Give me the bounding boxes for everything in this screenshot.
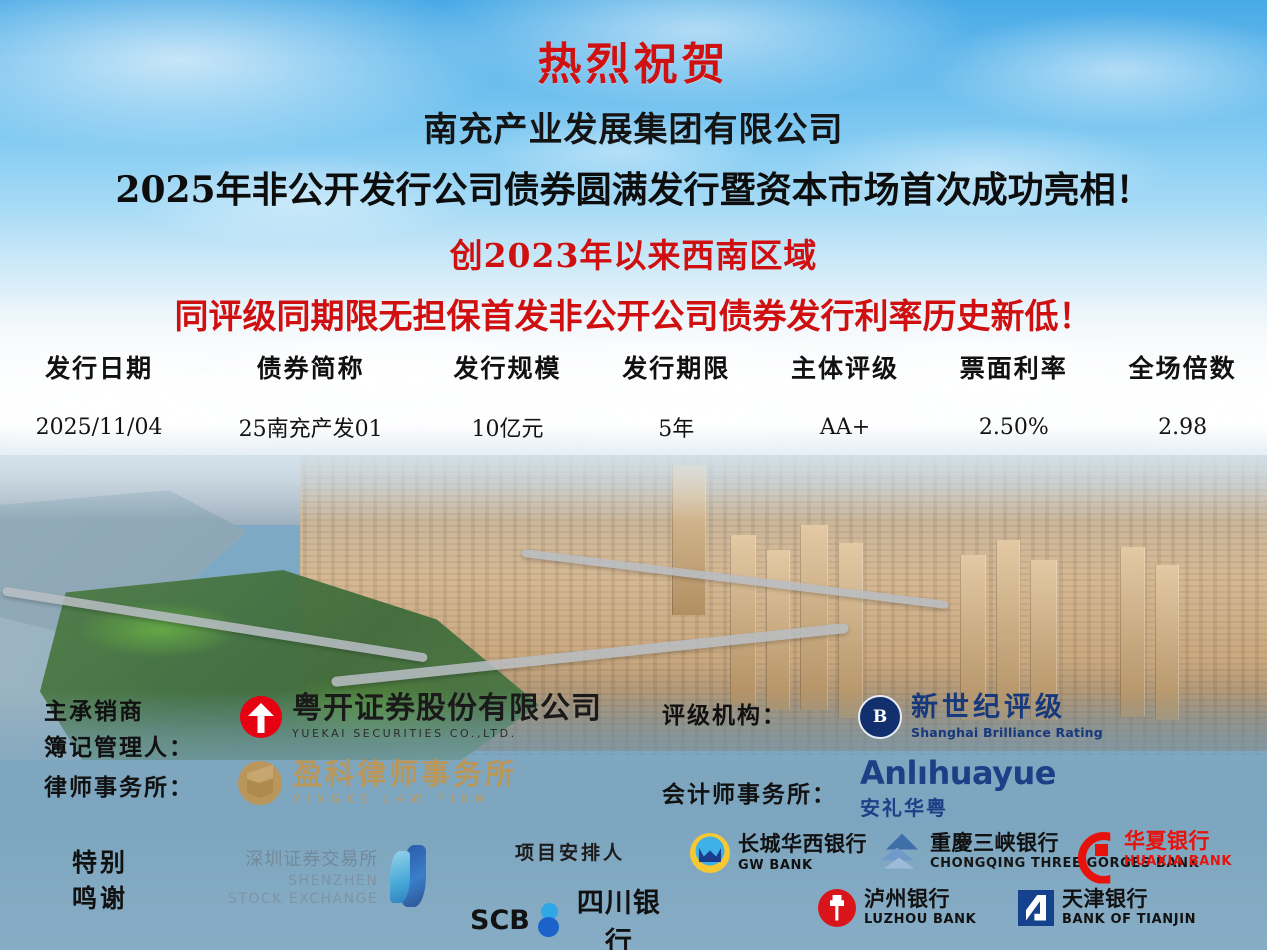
scb-name-cn: 四川银行	[568, 881, 670, 950]
col-header-issuer-rating: 主体评级	[761, 345, 930, 411]
record-line-1: 创2023年以来西南区域	[0, 229, 1267, 277]
thanks-line-1: 特别	[72, 845, 128, 881]
luzhou-bank-logo: 泸州银行 LUZHOU BANK	[818, 888, 976, 927]
col-header-tenor: 发行期限	[592, 345, 761, 411]
thanks-line-2: 鸣谢	[72, 881, 128, 917]
table-row: 2025/11/04 25南充产发01 10亿元 5年 AA+ 2.50% 2.…	[0, 411, 1267, 443]
yingke-cube-icon	[238, 761, 282, 805]
yingke-law-firm-logo: 盈科律师事务所 YINGKE LAW FIRM	[238, 760, 517, 806]
tianjin-bank-text: 天津银行 BANK OF TIANJIN	[1062, 888, 1196, 927]
high-rise	[730, 535, 756, 705]
congrats-title: 热烈祝贺	[0, 42, 1267, 88]
yingke-name-cn: 盈科律师事务所	[293, 760, 517, 789]
bank-of-tianjin-logo: 天津银行 BANK OF TIANJIN	[1018, 888, 1196, 927]
anlihuayue-logo: Anlıhuayue 安礼华粤	[860, 757, 1056, 821]
szse-name-cn: 深圳证券交易所	[228, 845, 378, 871]
huaxia-bank-text: 华夏银行 HUAXIA BANK	[1124, 830, 1232, 869]
cell-tenor: 5年	[592, 411, 761, 443]
bond-summary-table: 发行日期 债券简称 发行规模 发行期限 主体评级 票面利率 全场倍数 2025/…	[0, 345, 1267, 443]
szse-name-en-2: STOCK EXCHANGE	[228, 891, 378, 907]
cell-issue-size: 10亿元	[423, 411, 592, 443]
headline-block: 热烈祝贺 南充产业发展集团有限公司 2025年非公开发行公司债券圆满发行暨资本市…	[0, 0, 1267, 338]
high-rise	[800, 525, 828, 710]
cell-issuer-rating: AA+	[761, 411, 930, 443]
gw-bank-text: 长城华西银行 GW BANK	[738, 833, 867, 872]
szse-name-en-1: SHENZHEN	[228, 873, 378, 889]
yuekai-securities-logo: 粤开证券股份有限公司 YUEKAI SECURITIES CO.,LTD.	[240, 694, 602, 740]
brilliance-name-cn: 新世纪评级	[911, 694, 1103, 721]
yuekai-mark-icon	[240, 696, 282, 738]
huaxia-bank-logo: 华夏银行 HUAXIA BANK	[1078, 830, 1232, 869]
cell-subscription-multiple: 2.98	[1098, 411, 1267, 443]
huaxia-icon	[1078, 832, 1116, 868]
huaxia-name-en: HUAXIA BANK	[1124, 854, 1232, 869]
yuekai-name-cn: 粤开证券股份有限公司	[292, 694, 602, 724]
gw-bank-icon	[690, 833, 730, 873]
luzhou-icon	[818, 889, 856, 927]
huaxia-name-cn: 华夏银行	[1124, 830, 1232, 852]
col-header-issue-date: 发行日期	[0, 345, 198, 411]
szse-wing-icon	[386, 845, 430, 907]
tianjin-icon	[1018, 890, 1054, 926]
project-arranger-label: 项目安排人	[470, 838, 670, 865]
rating-agency-label: 评级机构：	[662, 696, 787, 730]
yuekai-name-en: YUEKAI SECURITIES CO.,LTD.	[292, 727, 602, 740]
table-header-row: 发行日期 债券简称 发行规模 发行期限 主体评级 票面利率 全场倍数	[0, 345, 1267, 411]
cell-issue-date: 2025/11/04	[0, 411, 198, 443]
shanghai-brilliance-rating-logo: B 新世纪评级 Shanghai Brilliance Rating	[858, 694, 1103, 740]
greatwall-west-china-bank-logo: 长城华西银行 GW BANK	[690, 833, 867, 873]
anlihuayue-name-cn: 安礼华粤	[860, 792, 1056, 821]
col-header-issue-size: 发行规模	[423, 345, 592, 411]
tianjin-name-en: BANK OF TIANJIN	[1062, 912, 1196, 927]
brilliance-seal-letter: B	[873, 707, 887, 727]
luzhou-bank-text: 泸州银行 LUZHOU BANK	[864, 888, 976, 927]
three-gorges-icon	[880, 834, 922, 870]
cell-bond-name: 25南充产发01	[198, 411, 423, 443]
anlihuayue-name-en: Anlıhuayue	[860, 757, 1056, 789]
underwriter-label: 主承销商	[44, 694, 194, 730]
tianjin-name-cn: 天津银行	[1062, 888, 1196, 910]
gw-bank-name-en: GW BANK	[738, 858, 867, 873]
szse-text-group: 深圳证券交易所 SHENZHEN STOCK EXCHANGE	[228, 845, 378, 907]
col-header-bond-name: 债券简称	[198, 345, 423, 411]
accountant-label: 会计师事务所：	[662, 775, 837, 809]
gw-bank-name-cn: 长城华西银行	[738, 833, 867, 855]
underwriter-label-group: 主承销商 簿记管理人：	[44, 694, 194, 765]
lawyer-label: 律师事务所：	[44, 768, 194, 802]
issue-subtitle: 2025年非公开发行公司债券圆满发行暨资本市场首次成功亮相！	[0, 161, 1267, 213]
shenzhen-stock-exchange-logo: 深圳证券交易所 SHENZHEN STOCK EXCHANGE	[228, 845, 430, 907]
project-arranger-group: 项目安排人 SCB 四川银行	[470, 838, 670, 950]
cell-coupon-rate: 2.50%	[929, 411, 1098, 443]
yingke-name-en: YINGKE LAW FIRM	[293, 792, 517, 806]
col-header-coupon-rate: 票面利率	[929, 345, 1098, 411]
col-header-subscription-multiple: 全场倍数	[1098, 345, 1267, 411]
special-thanks-label: 特别 鸣谢	[72, 845, 128, 918]
brilliance-seal-icon: B	[858, 695, 902, 739]
record-line-2: 同评级同期限无担保首发非公开公司债券发行利率历史新低！	[0, 289, 1267, 338]
luzhou-name-cn: 泸州银行	[864, 888, 976, 910]
scb-droplet-icon	[536, 903, 562, 937]
sichuan-bank-logo: SCB 四川银行	[470, 881, 670, 950]
brilliance-name-en: Shanghai Brilliance Rating	[911, 725, 1103, 740]
luzhou-name-en: LUZHOU BANK	[864, 912, 976, 927]
scb-abbrev: SCB	[470, 905, 530, 936]
bookrunner-label: 簿记管理人：	[44, 730, 194, 766]
distance-fog	[0, 455, 1267, 521]
company-name: 南充产业发展集团有限公司	[0, 102, 1267, 151]
poster-canvas: 热烈祝贺 南充产业发展集团有限公司 2025年非公开发行公司债券圆满发行暨资本市…	[0, 0, 1267, 950]
